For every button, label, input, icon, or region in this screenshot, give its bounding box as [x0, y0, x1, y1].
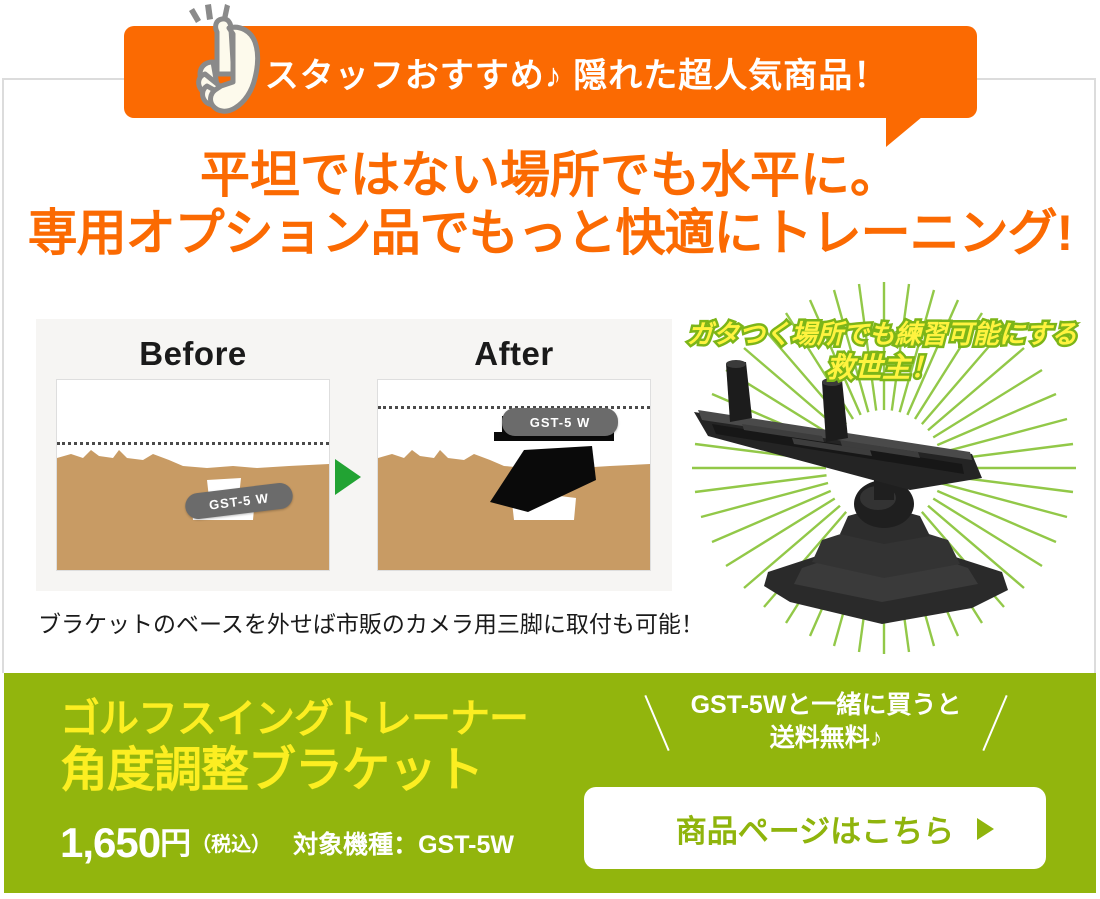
product-name-line-2: 角度調整ブラケット: [60, 743, 580, 799]
product-name: ゴルフスイングトレーナー 角度調整ブラケット: [60, 695, 580, 799]
after-device-label: GST-5 W: [502, 408, 618, 436]
bracket-caption: ブラケットのベースを外せば市販のカメラ用三脚に取付も可能！: [38, 605, 704, 639]
advertisement-banner: スタッフおすすめ♪ 隠れた超人気商品！ 平坦ではない場所でも水平に。 専用オプシ…: [0, 0, 1100, 899]
pointing-hand-icon: [183, 4, 275, 116]
speech-bubble-tail: [886, 117, 922, 147]
compatible-model: 対象機種：GST-5W: [293, 825, 514, 865]
before-after-panel: Before After GST-5 W GST-5 W: [36, 319, 672, 591]
shipping-note: GST-5Wと一緒に買うと 送料無料♪: [600, 689, 1052, 759]
shipping-line-1: GST-5Wと一緒に買うと: [600, 689, 1052, 722]
price-row: 1,650 円 （税込） 対象機種：GST-5W: [60, 821, 514, 865]
headline-line-2: 専用オプション品でもっと快適にトレーニング!: [0, 204, 1100, 262]
shipping-line-2: 送料無料♪: [600, 722, 1052, 755]
before-level-line: [57, 442, 329, 445]
staff-recommend-label: スタッフおすすめ♪ 隠れた超人気商品！: [265, 48, 888, 97]
product-page-button-label: 商品ページはこちら: [676, 806, 954, 851]
before-terrain: [57, 380, 329, 570]
product-page-button[interactable]: 商品ページはこちら: [584, 787, 1046, 869]
right-triangle-icon: [335, 459, 361, 495]
after-illustration: GST-5 W: [377, 379, 651, 571]
before-label: Before: [52, 335, 334, 373]
price-tax-note: （税込）: [191, 825, 271, 865]
product-name-line-1: ゴルフスイングトレーナー: [60, 695, 580, 743]
price-value: 1,650: [60, 821, 160, 865]
headline-line-1: 平坦ではない場所でも水平に。: [0, 146, 1100, 204]
product-burst-graphic: [672, 272, 1092, 672]
price-unit: 円: [160, 823, 191, 865]
after-label: After: [373, 335, 655, 373]
page-title: 平坦ではない場所でも水平に。 専用オプション品でもっと快適にトレーニング!: [0, 146, 1100, 262]
before-illustration: GST-5 W: [56, 379, 330, 571]
right-triangle-icon: [977, 818, 994, 840]
